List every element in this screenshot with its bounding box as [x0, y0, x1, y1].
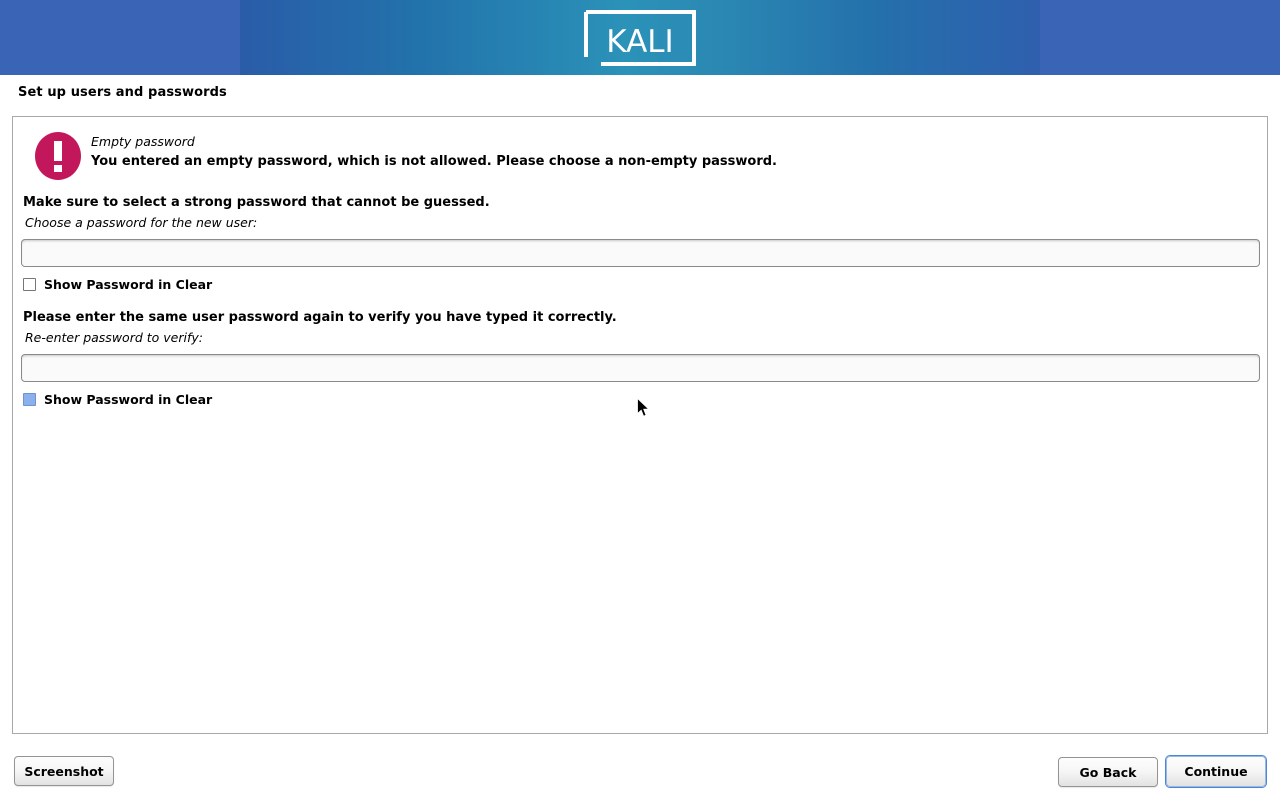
kali-logo: KALI: [583, 9, 697, 67]
main-content-panel: Empty password You entered an empty pass…: [12, 116, 1268, 734]
continue-button[interactable]: Continue: [1166, 756, 1266, 787]
checkbox-icon[interactable]: [23, 393, 36, 406]
page-title: Set up users and passwords: [18, 85, 227, 100]
strong-password-hint: Make sure to select a strong password th…: [23, 195, 490, 210]
password-field-label: Choose a password for the new user:: [25, 215, 257, 230]
show-password-label-1: Show Password in Clear: [44, 277, 212, 292]
exclamation-bar: [54, 141, 62, 161]
password-input[interactable]: [21, 239, 1260, 267]
exclamation-dot: [54, 165, 62, 172]
show-password-label-2: Show Password in Clear: [44, 392, 212, 407]
error-description: You entered an empty password, which is …: [91, 154, 777, 169]
screenshot-button[interactable]: Screenshot: [14, 756, 114, 786]
verify-password-hint: Please enter the same user password agai…: [23, 310, 617, 325]
go-back-button[interactable]: Go Back: [1058, 757, 1158, 787]
error-exclamation-icon: [35, 132, 81, 180]
verify-password-input[interactable]: [21, 354, 1260, 382]
error-title: Empty password: [91, 134, 195, 149]
show-password-checkbox-1[interactable]: Show Password in Clear: [23, 275, 212, 293]
verify-field-label: Re-enter password to verify:: [25, 330, 203, 345]
installer-banner: KALI: [0, 0, 1280, 75]
checkbox-icon[interactable]: [23, 278, 36, 291]
svg-text:KALI: KALI: [606, 24, 673, 60]
show-password-checkbox-2[interactable]: Show Password in Clear: [23, 390, 212, 408]
